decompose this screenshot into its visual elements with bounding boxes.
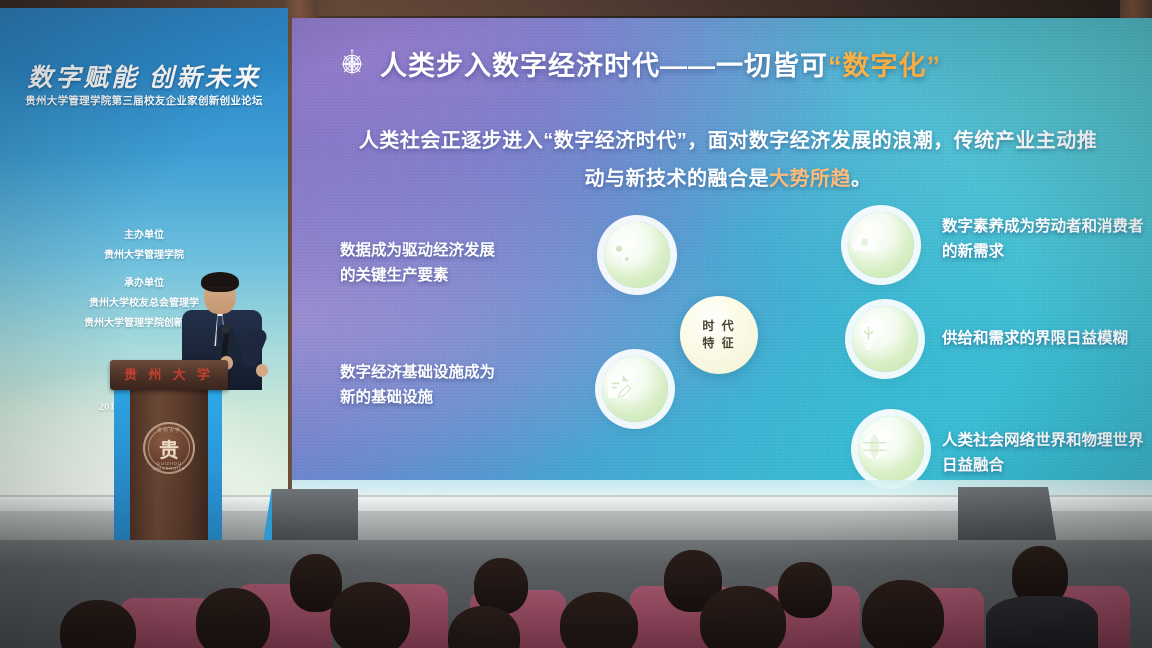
globe-icon [858, 430, 924, 468]
lightbulb-icon [852, 320, 918, 358]
body-text-4: 。 [851, 168, 872, 190]
seal-english-name: GUIZHOU UNIVERSITY [143, 461, 195, 471]
node-lightbulb [852, 306, 918, 372]
node-gears [604, 222, 670, 288]
slide-title: 人类步入数字经济时代——一切皆可“数字化” [336, 44, 941, 83]
speaker-hand-right [256, 364, 268, 377]
node-cloud [848, 212, 914, 278]
seal-chinese-name: 贵州大学 [143, 427, 195, 434]
microphone-head [221, 325, 230, 334]
hub-line-1: 时 代 [702, 318, 735, 335]
slide-body-paragraph: 人类社会正逐步进入“数字经济时代”，面对数字经济发展的浪潮，传统产业主动推动与新… [358, 122, 1098, 198]
banner-title: 数字赋能 创新未来 [0, 58, 288, 94]
podium-university-text: 贵 州 大 学 [110, 364, 228, 383]
node-document [602, 356, 668, 422]
body-emphasis-1: “数字经济时代” [543, 130, 687, 152]
era-characteristics-diagram: 时 代 特 征 [292, 204, 1152, 496]
node-label-lightbulb: 供给和需求的界限日益模糊 [942, 326, 1152, 351]
node-globe [858, 416, 924, 482]
organizer-label: 主办单位 [0, 226, 288, 246]
slide-title-highlight: “数字化” [828, 51, 941, 81]
university-seal: 贵州大学 贵 GUIZHOU UNIVERSITY [143, 422, 195, 474]
slide-title-text: 人类步入数字经济时代——一切皆可“数字化” [380, 44, 941, 83]
diagram-hub: 时 代 特 征 [680, 296, 758, 374]
body-text-1: 人类社会正逐步进入 [359, 130, 544, 152]
audience-area [0, 540, 1152, 648]
gears-icon [604, 236, 670, 274]
organizer-name: 贵州大学管理学院 [0, 246, 288, 266]
compass-icon [336, 48, 368, 80]
podium-side-right [208, 386, 222, 552]
podium-side-left [114, 386, 130, 552]
body-emphasis-2: 大势所趋 [769, 168, 851, 190]
node-label-globe: 人类社会网络世界和物理世界 日益融合 [942, 428, 1152, 478]
banner-subtitle: 贵州大学管理学院第三届校友企业家创新创业论坛 [0, 93, 288, 108]
slide-title-main: 人类步入数字经济时代——一切皆可 [380, 51, 828, 81]
body-text-2: ，面对数字经济发展的浪潮，传 [687, 130, 974, 152]
hub-line-2: 特 征 [702, 335, 735, 352]
cloud-icon [848, 226, 914, 264]
node-label-cloud: 数字素养成为劳动者和消费者 的新需求 [942, 214, 1152, 264]
podium: 贵 州 大 学 贵州大学 贵 GUIZHOU UNIVERSITY [110, 360, 228, 552]
led-screen-slide: 人类步入数字经济时代——一切皆可“数字化” 人类社会正逐步进入“数字经济时代”，… [292, 18, 1152, 496]
node-label-gears: 数据成为驱动经济发展 的关键生产要素 [340, 238, 570, 288]
document-icon [602, 370, 668, 408]
node-label-document: 数字经济基础设施成为 新的基础设施 [340, 360, 570, 410]
conference-photo: 数字赋能 创新未来 贵州大学管理学院第三届校友企业家创新创业论坛 主办单位 贵州… [0, 0, 1152, 648]
speaker-glasses [206, 287, 234, 295]
